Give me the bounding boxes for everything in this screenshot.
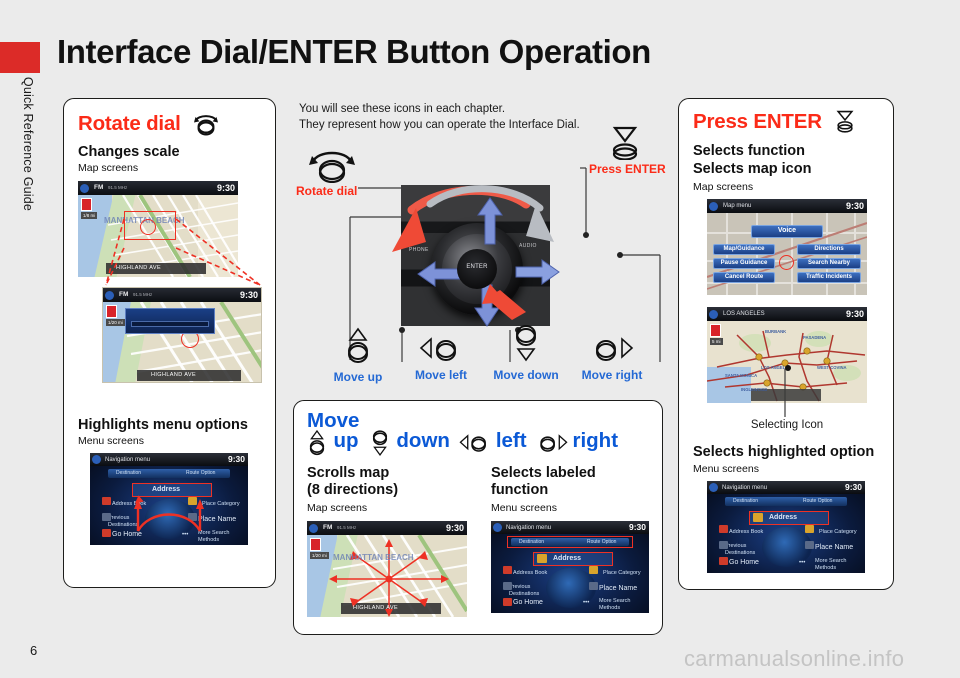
- move-col1-title2: (8 directions): [307, 482, 398, 499]
- screen-title: Navigation menu: [506, 525, 551, 531]
- enter-s2-caption: Menu screens: [693, 463, 759, 475]
- move-right-icon: [590, 335, 634, 363]
- menu-item-address-book[interactable]: Address Book: [513, 570, 547, 577]
- screen-title: Navigation menu: [722, 485, 767, 491]
- place-label: MANHATTAN BEACH: [333, 553, 414, 562]
- menu-item-place-category[interactable]: Place Category: [603, 570, 641, 577]
- rotate-section1-caption: Map screens: [78, 162, 138, 174]
- street-label: HIGHLAND AVE: [353, 605, 398, 611]
- move-col2-caption: Menu screens: [491, 502, 557, 514]
- move-left-icon: [419, 335, 463, 363]
- nav-menu-screen-highlight: Navigation menu 9:30 Destination Route O…: [90, 453, 248, 545]
- tab-destination[interactable]: Destination: [519, 539, 544, 545]
- clock: 9:30: [629, 522, 646, 532]
- tab-route-option[interactable]: Route Option: [803, 498, 832, 504]
- move-up-icon: [305, 429, 329, 457]
- menu-item-place-category[interactable]: Place Category: [819, 529, 857, 536]
- page-title: Interface Dial/ENTER Button Operation: [57, 33, 651, 71]
- move-right-icon: [536, 432, 568, 454]
- menu-item-previous-destinations[interactable]: Previous Destinations: [509, 584, 549, 597]
- move-right-label: Move right: [576, 368, 648, 382]
- map-screen-zoomed-in: FM 91.5 MHz 9:30 HIGHLAND AVE 1/20 mi: [102, 287, 262, 383]
- move-left-icon: [459, 432, 491, 454]
- radio-freq: 91.5 MHz: [133, 292, 152, 297]
- radio-band: FM: [323, 524, 332, 531]
- menu-item-more-search-methods[interactable]: More Search Methods: [599, 598, 645, 611]
- more-ellipsis: •••: [799, 560, 805, 566]
- page-number: 6: [30, 643, 37, 658]
- rotate-section2-title: Highlights menu options: [78, 417, 248, 434]
- enter-button-label: ENTER: [457, 264, 497, 270]
- panel-press-enter: Press ENTER Selects function Selects map…: [678, 98, 894, 590]
- menu-item-go-home[interactable]: Go Home: [513, 599, 543, 606]
- move-down-icon: [509, 323, 543, 363]
- panel-move: Move up down left right Scrolls map (8 d…: [293, 400, 663, 635]
- zoom-callout-lines: [64, 177, 277, 297]
- menu-item-previous-destinations[interactable]: Previous Destinations: [725, 543, 765, 556]
- move-down-label: Move down: [491, 368, 561, 382]
- map-scale: 1/20 mi: [106, 319, 125, 326]
- move-down-legend: Move down: [491, 323, 561, 382]
- rotate-section1-title: Changes scale: [78, 144, 180, 161]
- menu-item-place-name[interactable]: Place Name: [815, 544, 853, 551]
- highlighted-option[interactable]: Address: [769, 514, 797, 521]
- map-screen-scroll: FM 91.5 MHz 9:30: [307, 521, 467, 617]
- panel-rotate-heading: Rotate dial: [78, 112, 181, 135]
- menu-item-address-book[interactable]: Address Book: [729, 529, 763, 536]
- move-up-icon: [341, 327, 375, 365]
- move-left-label: Move left: [406, 368, 476, 382]
- street-label: HIGHLAND AVE: [151, 372, 196, 378]
- clock: 9:30: [240, 290, 258, 300]
- move-up-label: Move up: [328, 370, 388, 384]
- move-col2-title1: Selects labeled: [491, 465, 596, 482]
- tab-destination[interactable]: Destination: [733, 498, 758, 504]
- move-legend-left-label: left: [496, 429, 527, 452]
- nav-menu-screen-labeled: Navigation menu 9:30 Destination Route O…: [491, 521, 649, 613]
- move-legend-right-label: right: [572, 429, 618, 452]
- rotate-dial-icon: [192, 111, 220, 141]
- rotate-section2-caption: Menu screens: [78, 435, 144, 447]
- menu-item-more-search-methods[interactable]: More Search Methods: [815, 558, 861, 571]
- menu-item-go-home[interactable]: Go Home: [729, 559, 759, 566]
- move-legend-up-label: up: [333, 429, 358, 452]
- move-down-icon: [368, 429, 392, 457]
- clock: 9:30: [446, 523, 464, 533]
- move-left-legend: Move left: [406, 335, 476, 382]
- highlighted-option[interactable]: Address: [553, 555, 581, 562]
- radio-freq: 91.5 MHz: [337, 525, 356, 530]
- menu-item-place-name[interactable]: Place Name: [599, 585, 637, 592]
- selecting-icon-callout: Selecting Icon: [679, 419, 895, 431]
- move-col1-title1: Scrolls map: [307, 465, 389, 482]
- enter-s2-title: Selects highlighted option: [693, 444, 874, 461]
- move-legend: up down left right: [305, 429, 618, 457]
- move-legend-down-label: down: [396, 429, 450, 452]
- move-up-legend: Move up: [328, 327, 388, 384]
- tab-route-option[interactable]: Route Option: [587, 539, 616, 545]
- map-scale: 1/20 mi: [310, 552, 329, 559]
- radio-band: FM: [119, 291, 128, 298]
- move-col2-title2: function: [491, 482, 548, 499]
- move-col1-caption: Map screens: [307, 502, 367, 514]
- clock: 9:30: [845, 482, 862, 492]
- watermark: carmanualsonline.info: [684, 646, 904, 672]
- side-chapter-label: Quick Reference Guide: [21, 69, 35, 219]
- more-ellipsis: •••: [583, 600, 589, 606]
- nav-menu-screen-selected: Navigation menu 9:30 Destination Route O…: [707, 481, 865, 573]
- panel-rotate-dial: Rotate dial Changes scale Map screens FM…: [63, 98, 276, 588]
- move-right-legend: Move right: [576, 335, 648, 382]
- enter-button[interactable]: ENTER: [457, 249, 497, 289]
